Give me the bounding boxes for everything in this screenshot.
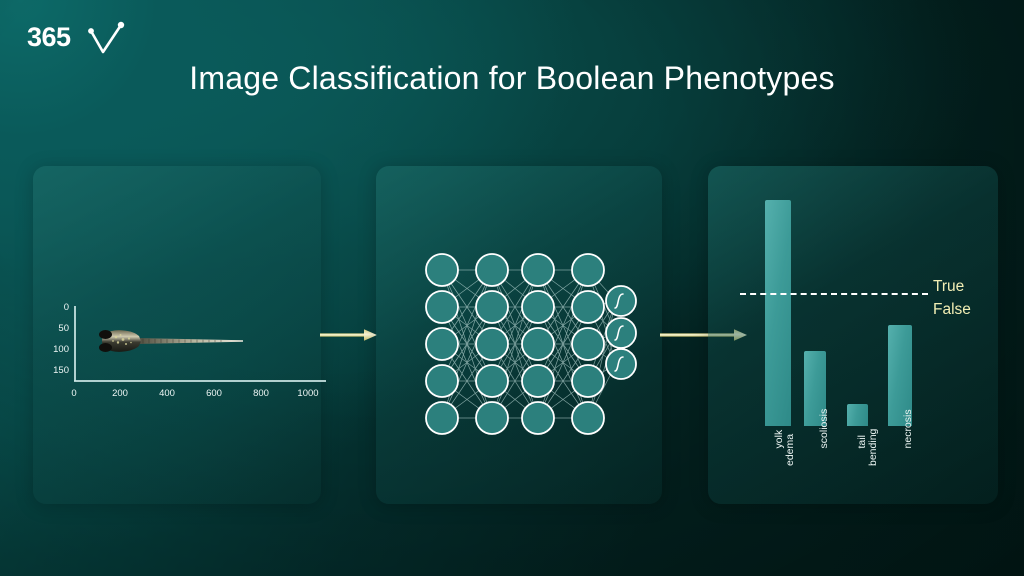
bar-label-tail-bending: tailbending xyxy=(845,429,891,466)
plot-x-axis xyxy=(74,380,326,382)
line-chart-checkmark-icon xyxy=(88,21,134,61)
zebrafish-larva-icon xyxy=(93,326,253,356)
bar-label-necrosis: necrosis xyxy=(891,409,926,466)
y-tick: 50 xyxy=(45,324,69,334)
brand-logo: 365 xyxy=(27,19,137,59)
output-chart-panel: True False yolkedema scoliosis tailbendi… xyxy=(708,166,998,504)
legend-false-label: False xyxy=(933,302,971,318)
y-tick: 150 xyxy=(45,366,69,376)
input-image-panel: 0 50 100 150 0 200 400 600 800 1000 xyxy=(33,166,321,504)
bars-container xyxy=(708,166,998,426)
x-tick: 0 xyxy=(57,389,91,399)
bar-yolk-edema[interactable] xyxy=(765,200,791,426)
sigmoid-curve-icon xyxy=(606,286,636,379)
zebrafish-plot: 0 50 100 150 0 200 400 600 800 1000 xyxy=(33,166,321,504)
neural-network-icon xyxy=(376,166,662,504)
bar-label-scoliosis: scoliosis xyxy=(807,409,842,466)
legend-true-label: True xyxy=(933,279,964,295)
bar-label-yolk-edema: yolkedema xyxy=(762,430,808,466)
page-title: Image Classification for Boolean Phenoty… xyxy=(0,60,1024,97)
brand-name: 365 xyxy=(27,24,71,51)
arrow-image-to-network xyxy=(320,328,378,342)
threshold-line xyxy=(740,293,928,295)
phenotype-bar-chart: True False yolkedema scoliosis tailbendi… xyxy=(708,166,998,504)
x-tick: 400 xyxy=(150,389,184,399)
plot-y-axis xyxy=(74,306,76,381)
x-tick: 600 xyxy=(197,389,231,399)
x-tick: 800 xyxy=(244,389,278,399)
x-tick: 1000 xyxy=(291,389,325,399)
bar-tail-bending[interactable] xyxy=(847,404,868,426)
y-tick: 100 xyxy=(45,345,69,355)
y-tick: 0 xyxy=(45,303,69,313)
neural-network-panel xyxy=(376,166,662,504)
x-tick: 200 xyxy=(103,389,137,399)
